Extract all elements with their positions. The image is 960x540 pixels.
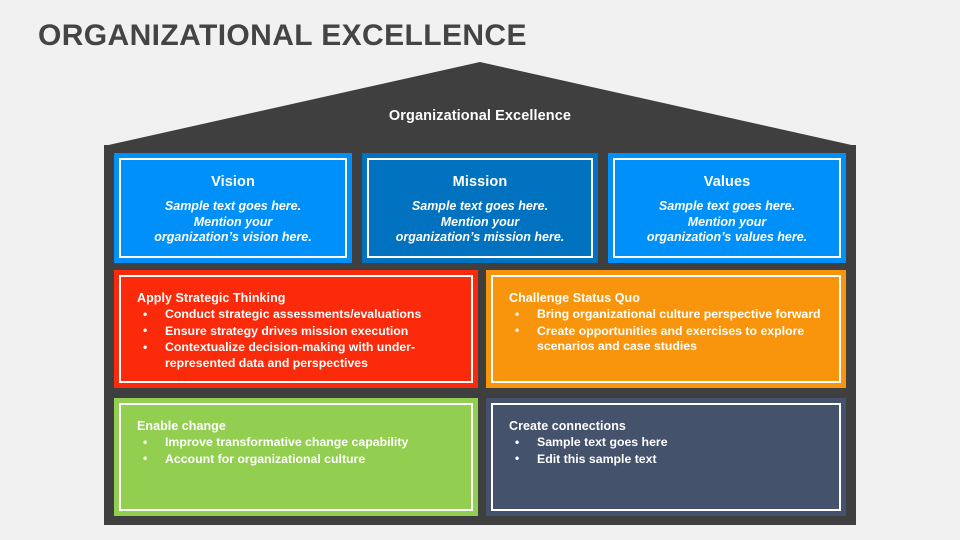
card-vision-line-3: organization’s vision here. bbox=[154, 230, 311, 246]
card-mission-line-2: Mention your bbox=[396, 215, 565, 231]
card-vision-title: Vision bbox=[211, 174, 255, 190]
card-challenge-status-quo-inner: Challenge Status Quo Bring organizationa… bbox=[491, 275, 841, 383]
list-item: Account for organizational culture bbox=[137, 452, 459, 468]
list-item: Contextualize decision-making with under… bbox=[137, 340, 459, 371]
card-values-body: Sample text goes here. Mention your orga… bbox=[647, 199, 807, 246]
card-values-line-1: Sample text goes here. bbox=[647, 199, 807, 215]
card-values-inner: Values Sample text goes here. Mention yo… bbox=[613, 158, 841, 258]
card-challenge-status-quo[interactable]: Challenge Status Quo Bring organizationa… bbox=[486, 270, 846, 388]
card-mission-inner: Mission Sample text goes here. Mention y… bbox=[367, 158, 593, 258]
slide-canvas: ORGANIZATIONAL EXCELLENCE Organizational… bbox=[0, 0, 960, 540]
house-roof: Organizational Excellence bbox=[104, 62, 856, 146]
list-item: Ensure strategy drives mission execution bbox=[137, 324, 459, 340]
card-enable-change[interactable]: Enable change Improve transformative cha… bbox=[114, 398, 478, 516]
house-body-frame: Vision Sample text goes here. Mention yo… bbox=[104, 145, 856, 525]
card-values-line-2: Mention your bbox=[647, 215, 807, 231]
card-vision[interactable]: Vision Sample text goes here. Mention yo… bbox=[114, 153, 352, 263]
card-create-connections-bullets: Sample text goes here Edit this sample t… bbox=[509, 435, 827, 467]
card-mission-body: Sample text goes here. Mention your orga… bbox=[396, 199, 565, 246]
card-apply-strategic-thinking-inner: Apply Strategic Thinking Conduct strateg… bbox=[119, 275, 473, 383]
card-create-connections-inner: Create connections Sample text goes here… bbox=[491, 403, 841, 511]
roof-triangle-icon bbox=[104, 62, 856, 146]
card-mission-line-3: organization’s mission here. bbox=[396, 230, 565, 246]
card-enable-change-bullets: Improve transformative change capability… bbox=[137, 435, 459, 467]
card-enable-change-title: Enable change bbox=[137, 419, 459, 433]
card-challenge-status-quo-title: Challenge Status Quo bbox=[509, 291, 827, 305]
card-apply-strategic-thinking-bullets: Conduct strategic assessments/evaluation… bbox=[137, 307, 459, 371]
card-challenge-status-quo-bullets: Bring organizational culture perspective… bbox=[509, 307, 827, 355]
card-vision-line-1: Sample text goes here. bbox=[154, 199, 311, 215]
card-create-connections-title: Create connections bbox=[509, 419, 827, 433]
card-vision-inner: Vision Sample text goes here. Mention yo… bbox=[119, 158, 347, 258]
card-apply-strategic-thinking[interactable]: Apply Strategic Thinking Conduct strateg… bbox=[114, 270, 478, 388]
page-title: ORGANIZATIONAL EXCELLENCE bbox=[38, 19, 527, 53]
list-item: Create opportunities and exercises to ex… bbox=[509, 324, 827, 355]
list-item: Conduct strategic assessments/evaluation… bbox=[137, 307, 459, 323]
list-item: Sample text goes here bbox=[509, 435, 827, 451]
card-apply-strategic-thinking-title: Apply Strategic Thinking bbox=[137, 291, 459, 305]
card-values-line-3: organization’s values here. bbox=[647, 230, 807, 246]
card-values-title: Values bbox=[704, 174, 751, 190]
card-mission-title: Mission bbox=[453, 174, 508, 190]
card-vision-body: Sample text goes here. Mention your orga… bbox=[154, 199, 311, 246]
card-vision-line-2: Mention your bbox=[154, 215, 311, 231]
card-values[interactable]: Values Sample text goes here. Mention yo… bbox=[608, 153, 846, 263]
card-enable-change-inner: Enable change Improve transformative cha… bbox=[119, 403, 473, 511]
card-mission[interactable]: Mission Sample text goes here. Mention y… bbox=[362, 153, 598, 263]
card-mission-line-1: Sample text goes here. bbox=[396, 199, 565, 215]
list-item: Bring organizational culture perspective… bbox=[509, 307, 827, 323]
roof-label: Organizational Excellence bbox=[104, 108, 856, 124]
list-item: Edit this sample text bbox=[509, 452, 827, 468]
list-item: Improve transformative change capability bbox=[137, 435, 459, 451]
card-create-connections[interactable]: Create connections Sample text goes here… bbox=[486, 398, 846, 516]
